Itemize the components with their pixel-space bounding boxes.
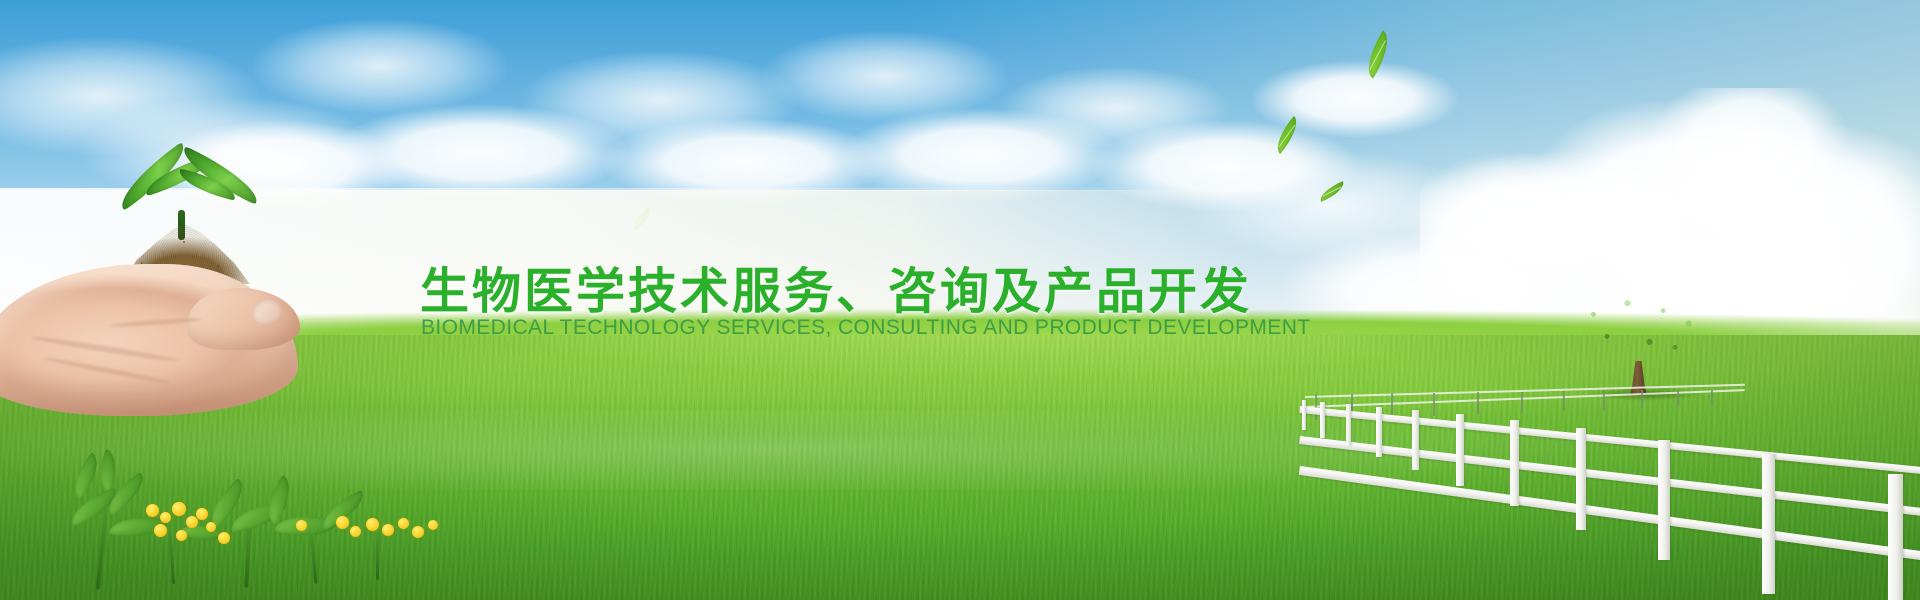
yellow-flower (428, 520, 438, 530)
yellow-flower (186, 516, 198, 528)
yellow-flower (154, 524, 167, 537)
yellow-flower (172, 502, 186, 516)
cloud-icon (520, 50, 800, 150)
hero-banner: 生物医学技术服务、咨询及产品开发 BIOMEDICAL TECHNOLOGY S… (0, 0, 1920, 600)
cloud-icon (250, 18, 510, 114)
hand-with-sprout-icon (0, 140, 310, 400)
yellow-flower (412, 526, 424, 538)
thumb (188, 288, 300, 350)
page-subtitle: BIOMEDICAL TECHNOLOGY SERVICES, CONSULTI… (421, 316, 1311, 340)
yellow-flower (382, 524, 394, 536)
page-title: 生物医学技术服务、咨询及产品开发 (420, 252, 1252, 323)
yellow-flower (206, 522, 216, 532)
cloud-icon (760, 30, 1010, 122)
yellow-flower (196, 508, 208, 520)
flower-cluster (50, 460, 470, 600)
yellow-flower (350, 526, 361, 537)
yellow-flower (176, 530, 187, 541)
yellow-flower (160, 512, 171, 523)
cloud-icon (1000, 66, 1230, 150)
white-fence (1300, 392, 1920, 600)
yellow-flower (366, 518, 379, 531)
tree-canopy-texture (1556, 283, 1726, 375)
yellow-flower (296, 520, 307, 531)
yellow-flower (398, 518, 409, 529)
yellow-flower (146, 504, 159, 517)
yellow-flower (336, 516, 349, 529)
yellow-flower (218, 532, 230, 544)
